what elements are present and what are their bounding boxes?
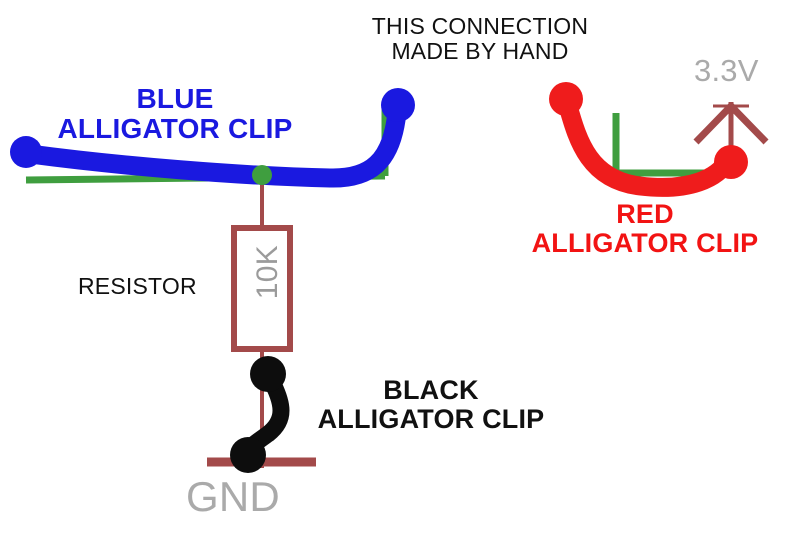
- label-vcc-voltage: 3.3V: [694, 54, 759, 87]
- label-resistor-value: 10K: [252, 240, 284, 304]
- black-clip-bottom-node[interactable]: [230, 437, 266, 473]
- label-blue-alligator-clip: BLUE ALLIGATOR CLIP: [0, 84, 350, 144]
- blue-clip-tip-node[interactable]: [381, 88, 415, 122]
- red-clip-vcc-node[interactable]: [714, 145, 748, 179]
- label-red-alligator-clip: RED ALLIGATOR CLIP: [490, 200, 800, 258]
- vcc-barb-right: [731, 106, 766, 142]
- vcc-barb-left: [696, 106, 731, 142]
- resistor-top-junction-dot: [252, 165, 272, 185]
- circuit-schematic: [0, 0, 800, 540]
- red-clip-jaw-node[interactable]: [549, 82, 583, 116]
- label-resistor: RESISTOR: [78, 274, 197, 299]
- label-black-alligator-clip: BLACK ALLIGATOR CLIP: [276, 376, 586, 434]
- diagram-canvas: BLUE ALLIGATOR CLIP RED ALLIGATOR CLIP B…: [0, 0, 800, 540]
- label-gnd: GND: [186, 474, 280, 519]
- label-hand-connection-note: THIS CONNECTION MADE BY HAND: [350, 14, 610, 64]
